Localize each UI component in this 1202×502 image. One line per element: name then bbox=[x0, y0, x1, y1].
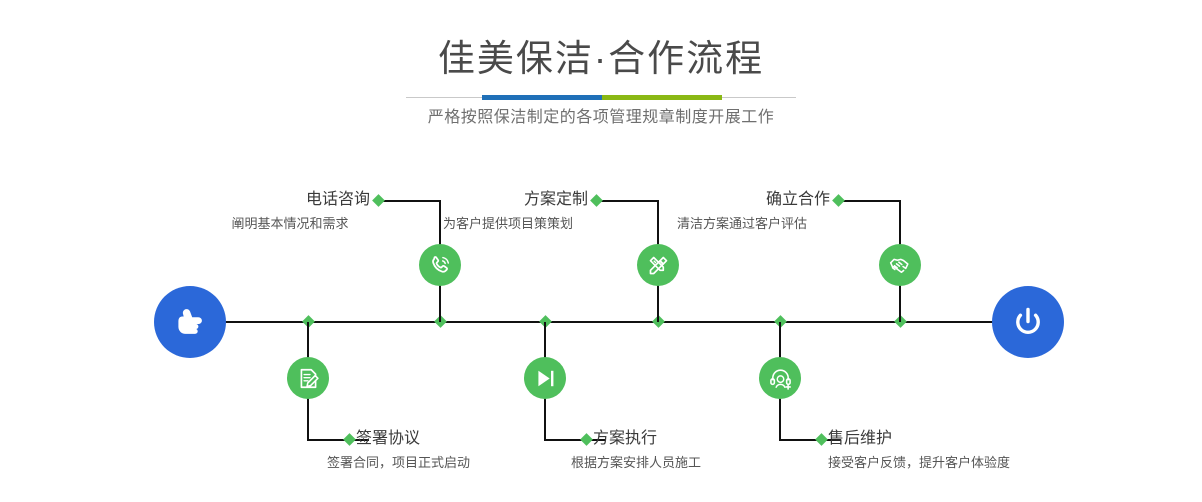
step-3-title: 方案定制 bbox=[392, 190, 588, 210]
step-2-title: 签署协议 bbox=[356, 429, 576, 449]
step-2-icon-circle[interactable] bbox=[287, 357, 329, 399]
step-6-desc: 接受客户反馈，提升客户体验度 bbox=[828, 454, 1108, 472]
step-5-label-diamond bbox=[832, 194, 845, 207]
step-5-desc: 清洁方案通过客户评估 bbox=[637, 215, 847, 233]
step-4-label-diamond bbox=[580, 433, 593, 446]
step-1-icon-circle[interactable] bbox=[419, 244, 461, 286]
step-5-title: 确立合作 bbox=[634, 190, 830, 210]
step-4-icon-circle[interactable] bbox=[524, 357, 566, 399]
step-1-title: 电话咨询 bbox=[174, 190, 370, 210]
play-next-icon bbox=[533, 366, 558, 391]
process-timeline: 电话咨询 阐明基本情况和需求 签署协议 bbox=[0, 0, 1202, 502]
step-5-icon-circle[interactable] bbox=[879, 244, 921, 286]
step-6-icon-circle[interactable] bbox=[759, 357, 801, 399]
timeline-end-endpoint[interactable] bbox=[992, 286, 1064, 358]
step-2-label-diamond bbox=[343, 433, 356, 446]
step-1-desc: 阐明基本情况和需求 bbox=[185, 215, 395, 233]
power-icon bbox=[1008, 302, 1048, 342]
step-1-label-diamond bbox=[372, 194, 385, 207]
timeline-start-endpoint[interactable] bbox=[154, 286, 226, 358]
step-6-title: 售后维护 bbox=[828, 429, 1048, 449]
step-4-desc: 根据方案安排人员施工 bbox=[571, 454, 831, 472]
step-5-elbow bbox=[838, 200, 900, 202]
step-2-desc: 签署合同，项目正式启动 bbox=[327, 454, 587, 472]
handshake-icon bbox=[888, 253, 913, 278]
step-6-label-diamond bbox=[815, 433, 828, 446]
step-3-label-diamond bbox=[590, 194, 603, 207]
flowchart-page: 佳美保洁·合作流程 严格按照保洁制定的各项管理规章制度开展工作 bbox=[0, 0, 1202, 502]
pencil-ruler-icon bbox=[646, 253, 671, 278]
step-3-icon-circle[interactable] bbox=[637, 244, 679, 286]
customer-service-add-icon bbox=[768, 366, 793, 391]
timeline-main-line bbox=[158, 321, 1048, 323]
pointing-hand-icon bbox=[170, 302, 210, 342]
phone-call-icon bbox=[428, 253, 453, 278]
document-edit-icon bbox=[296, 366, 321, 391]
step-3-desc: 为客户提供项目策策划 bbox=[403, 215, 613, 233]
